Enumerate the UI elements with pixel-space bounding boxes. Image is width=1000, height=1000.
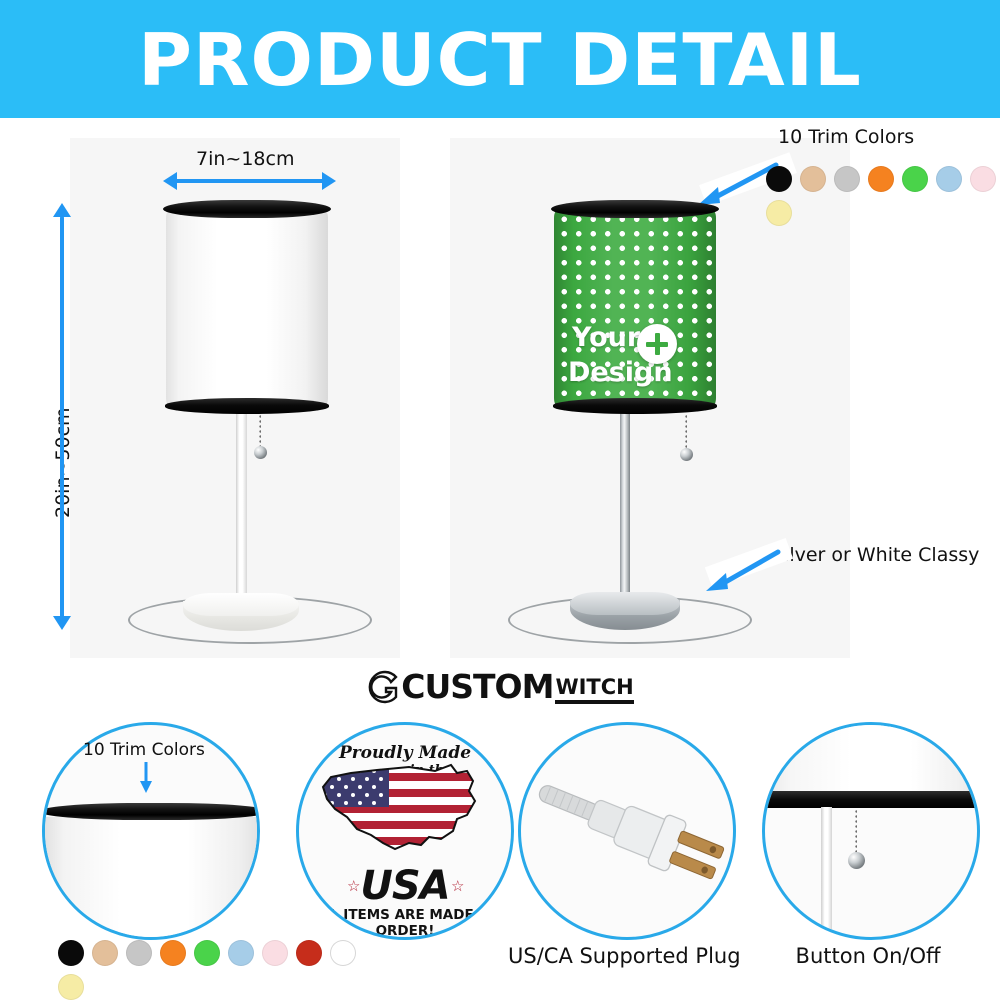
features-row: 10 Trim Colors Proudly Made in the (0, 712, 1000, 1000)
usa-star-left: ☆ (347, 877, 360, 895)
brand-witch-text: WITCH (555, 677, 633, 698)
trim-swatch-green[interactable] (902, 166, 928, 192)
feature-trim-band (42, 803, 260, 820)
feature-trim-colors-label: 10 Trim Colors (83, 740, 205, 760)
trim-swatch-row-top (766, 166, 1000, 192)
button-feature-caption: Button On/Off (752, 944, 984, 968)
trim-swatch-red[interactable] (296, 940, 322, 966)
brand-custom-text: CUSTOM (401, 670, 553, 704)
base-finish-label: Silver or White Classy (772, 544, 979, 566)
made-in-usa-feature: Proudly Made in the (296, 722, 514, 940)
button-feature-pull-chain[interactable] (849, 809, 863, 861)
showcase-area: 7in~18cm 20in~50cm (0, 118, 1000, 663)
trim-swatch-white[interactable] (330, 940, 356, 966)
trim-swatch-green[interactable] (194, 940, 220, 966)
plug-feature (518, 722, 736, 940)
brand-logo: CUSTOM WITCH (0, 663, 1000, 711)
feature-trim-arrow-icon (136, 760, 156, 794)
trim-swatch-light-blue[interactable] (228, 940, 254, 966)
trim-swatch-yellow[interactable] (766, 200, 792, 226)
trim-swatch-black[interactable] (58, 940, 84, 966)
trim-colors-heading: 10 Trim Colors (778, 126, 914, 148)
trim-swatch-pink[interactable] (970, 166, 996, 192)
trim-swatch-tan[interactable] (92, 940, 118, 966)
height-arrow-head-top (53, 203, 71, 217)
product-detail-page: PRODUCT DETAIL 7in~18cm 20in~50cm (0, 0, 1000, 1000)
trim-swatch-light-blue[interactable] (936, 166, 962, 192)
height-arrow-line (60, 216, 64, 618)
your-design-line1: Your (572, 323, 640, 353)
usa-badge-big: USA (299, 863, 511, 909)
trim-swatch-pink[interactable] (262, 940, 288, 966)
trim-swatch-orange[interactable] (868, 166, 894, 192)
green-lamp-trim-top (551, 200, 719, 218)
plug-feature-caption: US/CA Supported Plug (508, 944, 740, 968)
white-lamp-shade (166, 208, 328, 408)
height-arrow-head-bottom (53, 616, 71, 630)
width-dimension-label: 7in~18cm (196, 148, 294, 170)
brand-underline (555, 700, 633, 704)
feature-swatch-row-2 (58, 974, 84, 1000)
green-lamp-trim-bottom (553, 398, 717, 414)
trim-swatch-black[interactable] (766, 166, 792, 192)
button-feature-shade-body (762, 725, 980, 797)
trim-swatch-gray[interactable] (126, 940, 152, 966)
white-lamp-base (183, 593, 299, 633)
button-feature-trim (762, 791, 980, 808)
width-arrow-line (175, 179, 325, 183)
usa-badge-sub: ALL ITEMS ARE MADE TO ORDER! (299, 907, 511, 939)
base-finish-arrow (700, 546, 784, 594)
trim-swatch-yellow[interactable] (58, 974, 84, 1000)
white-lamp-trim-bottom (165, 398, 329, 414)
feature-shade-body (42, 817, 260, 940)
brand-c-icon (366, 670, 400, 704)
power-plug-icon (529, 773, 729, 893)
green-lamp-base (570, 592, 680, 632)
green-lamp-pole (620, 408, 630, 602)
white-lamp-pole (236, 408, 247, 603)
button-feature (762, 722, 980, 940)
feature-swatch-row-1 (58, 940, 356, 966)
green-lamp-chain-ball (680, 448, 693, 461)
white-lamp-trim-top (163, 200, 331, 218)
width-arrow-head-left (163, 172, 177, 190)
button-feature-pole (821, 807, 832, 937)
width-arrow-head-right (322, 172, 336, 190)
button-feature-chain-ball (848, 852, 865, 869)
trim-swatch-tan[interactable] (800, 166, 826, 192)
usa-map-icon (317, 757, 493, 863)
usa-star-right: ☆ (451, 877, 464, 895)
white-lamp-pull-chain[interactable] (253, 414, 267, 454)
plus-icon (637, 324, 677, 364)
green-lamp-pull-chain[interactable] (679, 414, 693, 456)
white-lamp-chain-ball (254, 446, 267, 459)
trim-swatch-orange[interactable] (160, 940, 186, 966)
page-title: PRODUCT DETAIL (0, 18, 1000, 102)
trim-swatch-gray[interactable] (834, 166, 860, 192)
